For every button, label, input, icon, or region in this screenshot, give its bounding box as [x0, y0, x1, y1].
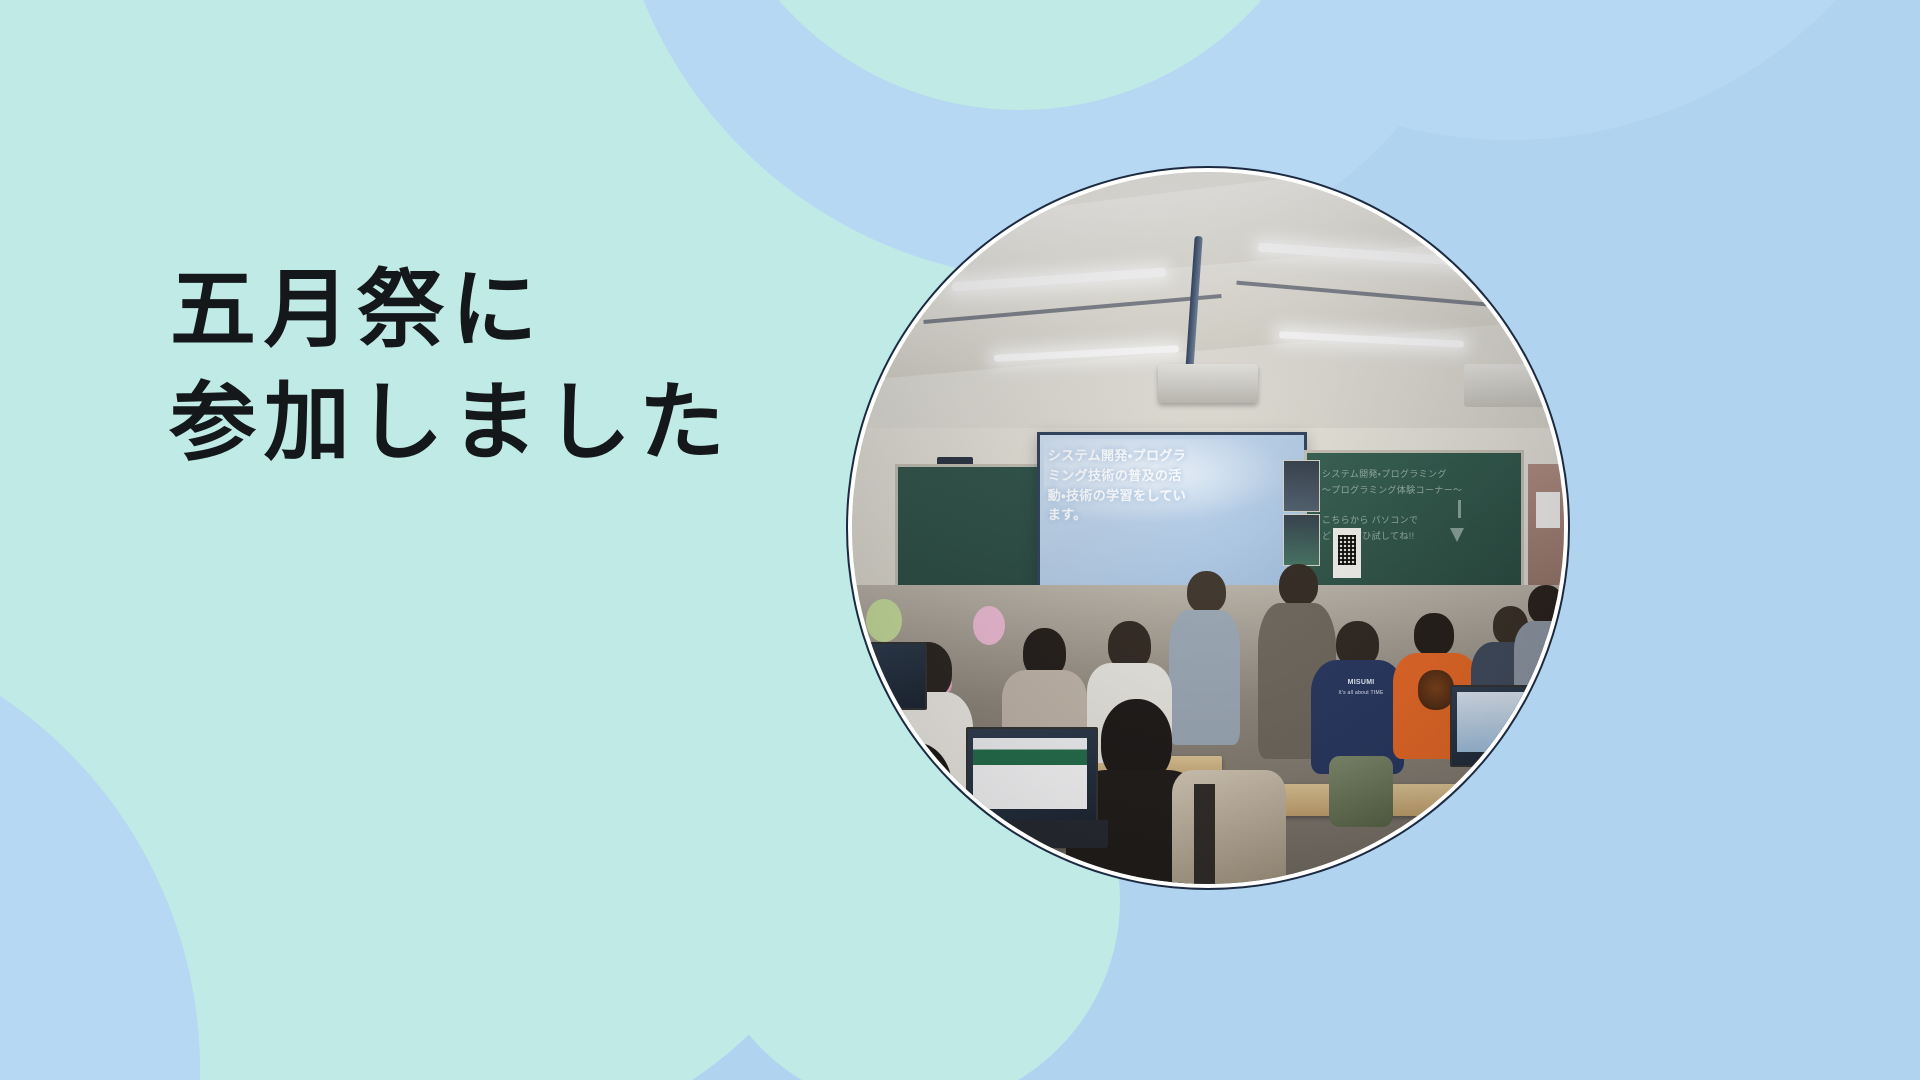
photo-circle: システム開発・プログラ ミング技術の普及の活 動・技術の学習をしてい ます。 シ… [852, 172, 1564, 884]
page-title: 五月祭に 参加しました [170, 254, 810, 481]
photo-vignette [852, 172, 1564, 884]
classroom-photo: システム開発・プログラ ミング技術の普及の活 動・技術の学習をしてい ます。 シ… [852, 172, 1564, 884]
event-banner: 五月祭に 参加しました シス [0, 0, 1920, 1080]
